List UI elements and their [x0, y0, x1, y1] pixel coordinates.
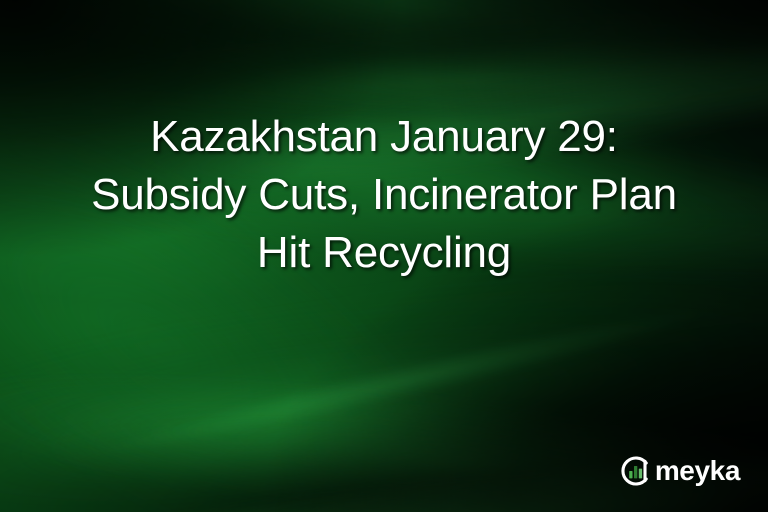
headline: Kazakhstan January 29: Subsidy Cuts, Inc…: [0, 108, 768, 282]
headline-line-2: Subsidy Cuts, Incinerator Plan: [12, 166, 756, 224]
news-banner-card: Kazakhstan January 29: Subsidy Cuts, Inc…: [0, 0, 768, 512]
headline-line-3: Hit Recycling: [12, 224, 756, 282]
meyka-wordmark: meyka: [655, 457, 740, 485]
meyka-logo[interactable]: meyka: [619, 454, 740, 488]
wave-streak-9: [100, 295, 712, 468]
headline-line-1: Kazakhstan January 29:: [12, 108, 756, 166]
meyka-circle-barchart-icon: [619, 454, 653, 488]
